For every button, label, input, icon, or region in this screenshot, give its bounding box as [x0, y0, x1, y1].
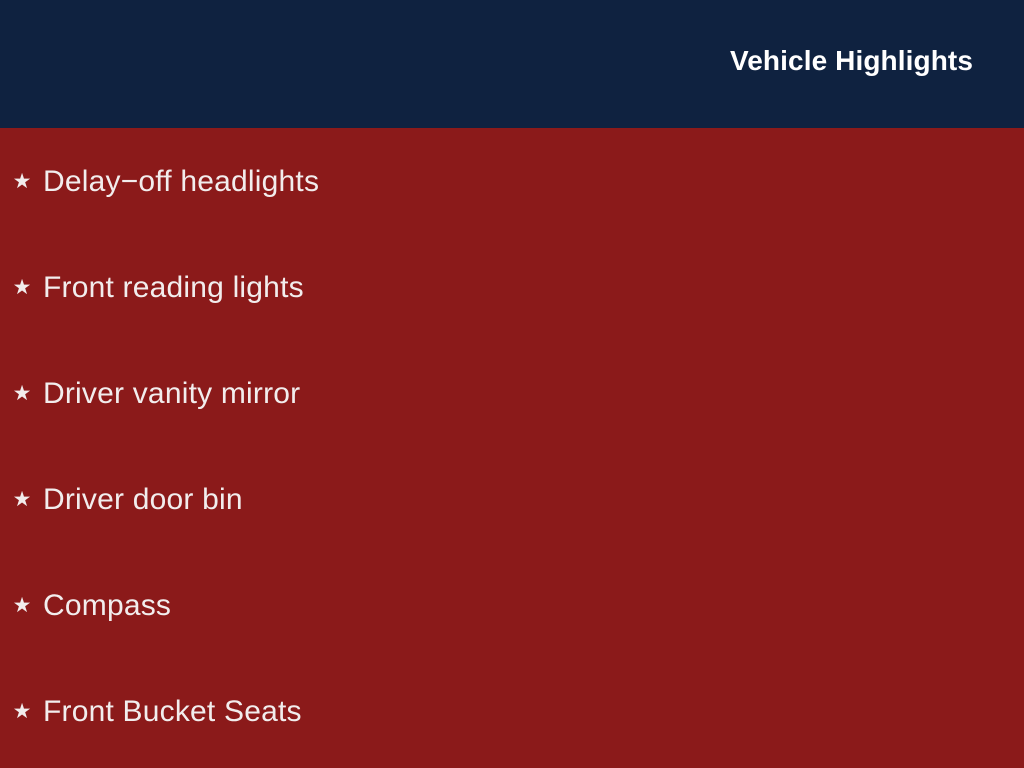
star-icon: ★	[11, 584, 33, 628]
star-icon: ★	[11, 266, 33, 310]
header-band: Vehicle Highlights	[0, 0, 1024, 128]
list-item: ★ Front reading lights	[0, 266, 1000, 310]
star-icon: ★	[11, 478, 33, 522]
list-item: ★ Delay−off headlights	[0, 160, 1000, 204]
list-item: ★ Driver door bin	[0, 478, 1000, 522]
list-item: ★ Front Bucket Seats	[0, 690, 1000, 734]
star-icon: ★	[11, 690, 33, 734]
list-item-label: Delay−off headlights	[43, 160, 319, 204]
list-item-label: Front Bucket Seats	[43, 690, 302, 734]
list-item-label: Front reading lights	[43, 266, 304, 310]
list-item-label: Driver door bin	[43, 478, 243, 522]
slide: Vehicle Highlights ★ Delay−off headlight…	[0, 0, 1024, 768]
list-item-label: Compass	[43, 584, 171, 628]
list-item: ★ Compass	[0, 584, 1000, 628]
star-icon: ★	[11, 160, 33, 204]
star-icon: ★	[11, 372, 33, 416]
list-item-label: Driver vanity mirror	[43, 372, 300, 416]
page-title: Vehicle Highlights	[730, 44, 973, 78]
content-area: ★ Delay−off headlights ★ Front reading l…	[0, 128, 1024, 768]
list-item: ★ Driver vanity mirror	[0, 372, 1000, 416]
